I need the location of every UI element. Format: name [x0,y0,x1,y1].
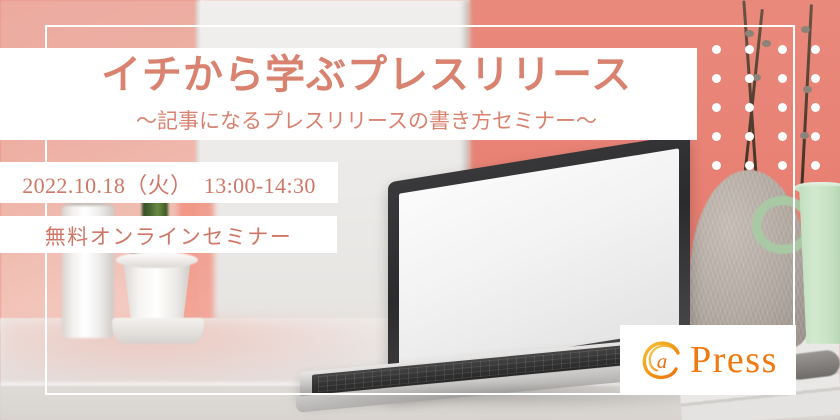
svg-text:a: a [657,349,668,373]
grid-dot [811,132,820,141]
grid-dot [811,74,820,83]
grid-dot [811,161,820,170]
grid-dot [712,74,721,83]
grid-dot [712,161,721,170]
page-subtitle: 〜記事になるプレスリリースの書き方セミナー〜 [0,105,697,135]
grid-dot [811,103,820,112]
seminar-type-label: 無料オンラインセミナー [0,221,337,251]
at-symbol-icon: a [638,336,686,384]
grid-dot [778,132,787,141]
grid-dot [745,103,754,112]
grid-dot [745,45,754,54]
grid-dot [712,45,721,54]
grid-dot [712,103,721,112]
grid-dot [778,45,787,54]
grid-dot [745,161,754,170]
event-datetime: 2022.10.18（火） 13:00-14:30 [0,168,338,200]
page-title: イチから学ぶプレスリリース [0,54,697,97]
apress-logo: a Press [620,325,796,395]
grid-dot [811,45,820,54]
grid-dot [778,74,787,83]
grid-dot [778,103,787,112]
grid-dot [712,132,721,141]
seminar-banner: イチから学ぶプレスリリース 〜記事になるプレスリリースの書き方セミナー〜 202… [0,0,840,420]
grid-dot [778,161,787,170]
grid-dot [745,74,754,83]
logo-wordmark: Press [690,341,778,379]
grid-dot [745,132,754,141]
